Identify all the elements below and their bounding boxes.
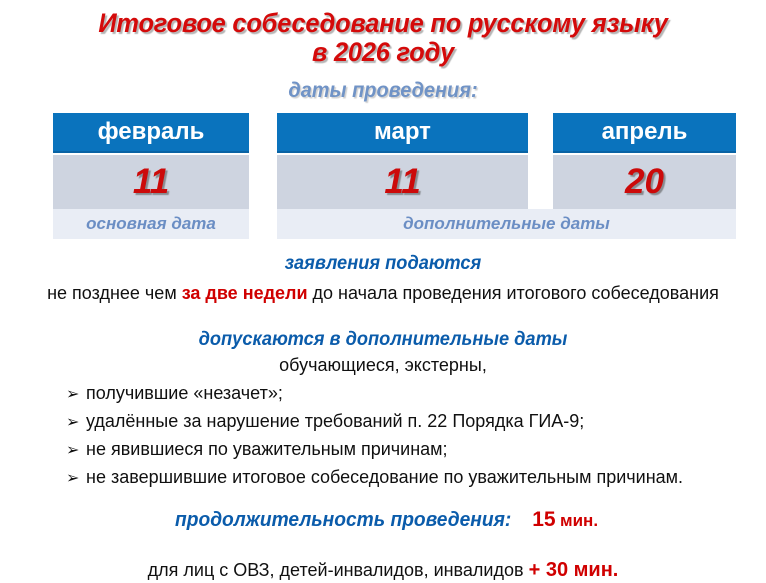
list-item-label: получившие «незачет»; [86, 383, 283, 403]
title-line-2: в 2026 году [23, 38, 743, 67]
application-sentence: не позднее чем за две недели до начала п… [0, 283, 766, 304]
page-title: Итоговое собеседование по русскому языку… [23, 9, 743, 67]
application-sentence-highlight: за две недели [182, 283, 308, 303]
list-item-label: не завершившие итоговое собеседование по… [86, 467, 683, 487]
ovz-note-text: для лиц с ОВЗ, детей-инвалидов, инвалидо… [148, 560, 529, 580]
list-item: ➢не завершившие итоговое собеседование п… [0, 467, 766, 488]
application-sentence-before: не позднее чем [47, 283, 182, 303]
date-column-april: апрель 20 [553, 113, 736, 209]
allowed-heading: допускаются в дополнительные даты [15, 329, 750, 351]
ovz-extra-time: + 30 мин. [529, 559, 619, 581]
day-cell-march: 11 [277, 155, 528, 209]
title-line-1: Итоговое собеседование по русскому языку [98, 8, 667, 38]
dates-table: февраль 11 март 11 апрель 20 основная да… [0, 113, 766, 239]
duration-label: продолжительность проведения: [175, 509, 511, 532]
list-item-label: удалённые за нарушение требований п. 22 … [86, 411, 584, 431]
allowed-section: допускаются в дополнительные даты обучаю… [0, 329, 766, 488]
dates-section-caption: даты проведения: [19, 79, 747, 103]
duration-section: продолжительность проведения:15 мин. [0, 508, 766, 532]
month-header-march: март [277, 113, 528, 153]
arrow-bullet-icon: ➢ [66, 440, 86, 460]
duration-unit: мин. [560, 511, 598, 530]
arrow-bullet-icon: ➢ [66, 412, 86, 432]
day-cell-february: 11 [53, 155, 249, 209]
application-section: заявления подаются не позднее чем за две… [0, 253, 766, 304]
list-item-label: не явившиеся по уважительным причинам; [86, 439, 448, 459]
arrow-bullet-icon: ➢ [66, 468, 86, 488]
month-header-april: апрель [553, 113, 736, 153]
day-number-april: 20 [625, 162, 664, 201]
date-column-march: март 11 [277, 113, 528, 209]
allowed-subheading: обучающиеся, экстерны, [0, 355, 766, 376]
list-item: ➢не явившиеся по уважительным причинам; [0, 439, 766, 460]
day-number-february: 11 [133, 162, 169, 201]
arrow-bullet-icon: ➢ [66, 384, 86, 404]
application-sentence-after: до начала проведения итогового собеседов… [308, 283, 719, 303]
day-number-march: 11 [384, 162, 420, 201]
day-cell-april: 20 [553, 155, 736, 209]
note-main-date: основная дата [53, 209, 249, 239]
month-header-february: февраль [53, 113, 249, 153]
allowed-list: ➢получившие «незачет»; ➢удалённые за нар… [0, 383, 766, 488]
list-item: ➢удалённые за нарушение требований п. 22… [0, 411, 766, 432]
date-column-february: февраль 11 [53, 113, 249, 209]
list-item: ➢получившие «незачет»; [0, 383, 766, 404]
note-additional-dates: дополнительные даты [277, 209, 736, 239]
application-heading: заявления подаются [15, 253, 750, 275]
duration-value: 15 [532, 508, 555, 531]
ovz-note: для лиц с ОВЗ, детей-инвалидов, инвалидо… [0, 559, 766, 582]
